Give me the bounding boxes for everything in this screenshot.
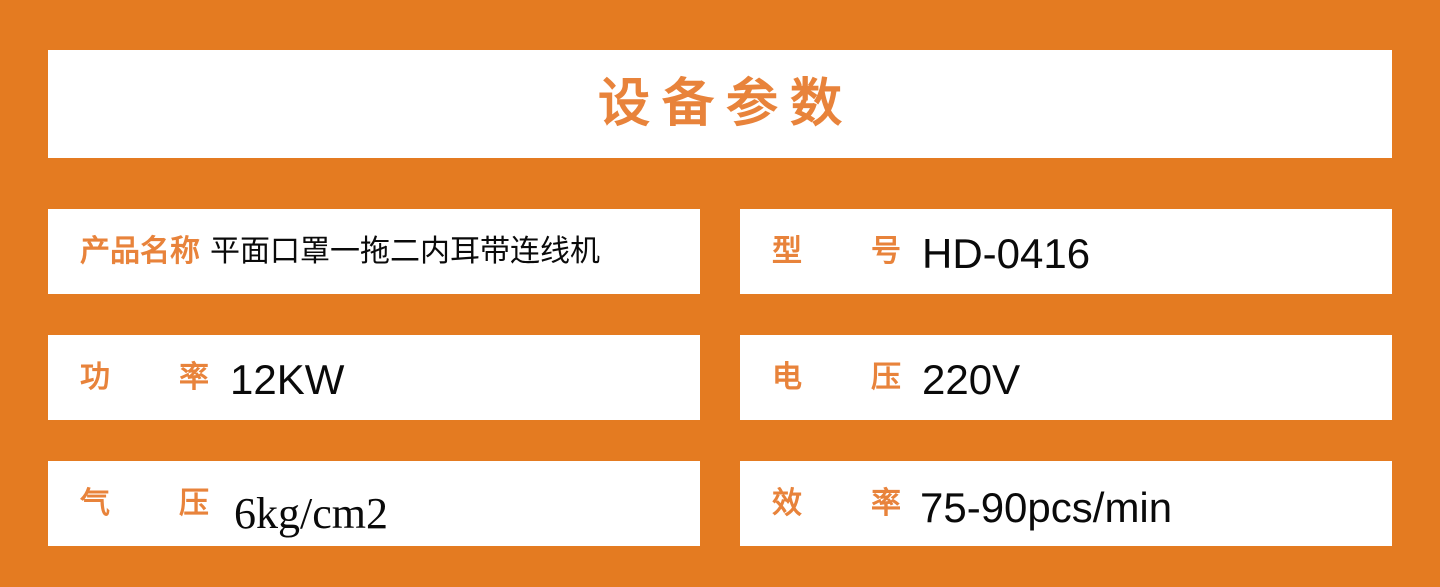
parameter-label: 电 压 [772,363,904,393]
parameter-row: 功 率 12KW 电 压 220V [48,335,1392,420]
parameter-label: 效 率 [772,489,904,519]
parameter-card-power: 功 率 12KW [48,335,700,420]
parameter-label: 产品名称 [80,237,200,267]
parameter-card-product-name: 产品名称 平面口罩一拖二内耳带连线机 [48,209,700,294]
parameter-label: 功 率 [80,363,212,393]
parameter-value: 6kg/cm2 [234,492,388,536]
parameter-value: 平面口罩一拖二内耳带连线机 [210,237,600,267]
parameter-label: 型 号 [772,237,904,267]
parameter-card-voltage: 电 压 220V [740,335,1392,420]
parameter-row: 产品名称 平面口罩一拖二内耳带连线机 型 号 HD-0416 [48,209,1392,294]
parameter-card-model: 型 号 HD-0416 [740,209,1392,294]
parameter-card-efficiency: 效 率 75-90pcs/min [740,461,1392,546]
parameter-label: 气 压 [80,489,212,519]
parameter-value: 12KW [230,359,344,401]
equipment-parameters-sheet: 设备参数 产品名称 平面口罩一拖二内耳带连线机 型 号 HD-0416 功 率 … [0,0,1440,587]
page-title: 设备参数 [586,78,854,130]
parameter-value: 75-90pcs/min [920,487,1172,529]
parameter-value: 220V [922,359,1020,401]
title-card: 设备参数 [48,50,1392,158]
parameter-card-air-pressure: 气 压 6kg/cm2 [48,461,700,546]
parameter-row: 气 压 6kg/cm2 效 率 75-90pcs/min [48,461,1392,546]
parameter-grid: 产品名称 平面口罩一拖二内耳带连线机 型 号 HD-0416 功 率 12KW … [48,209,1392,546]
parameter-value: HD-0416 [922,233,1090,275]
